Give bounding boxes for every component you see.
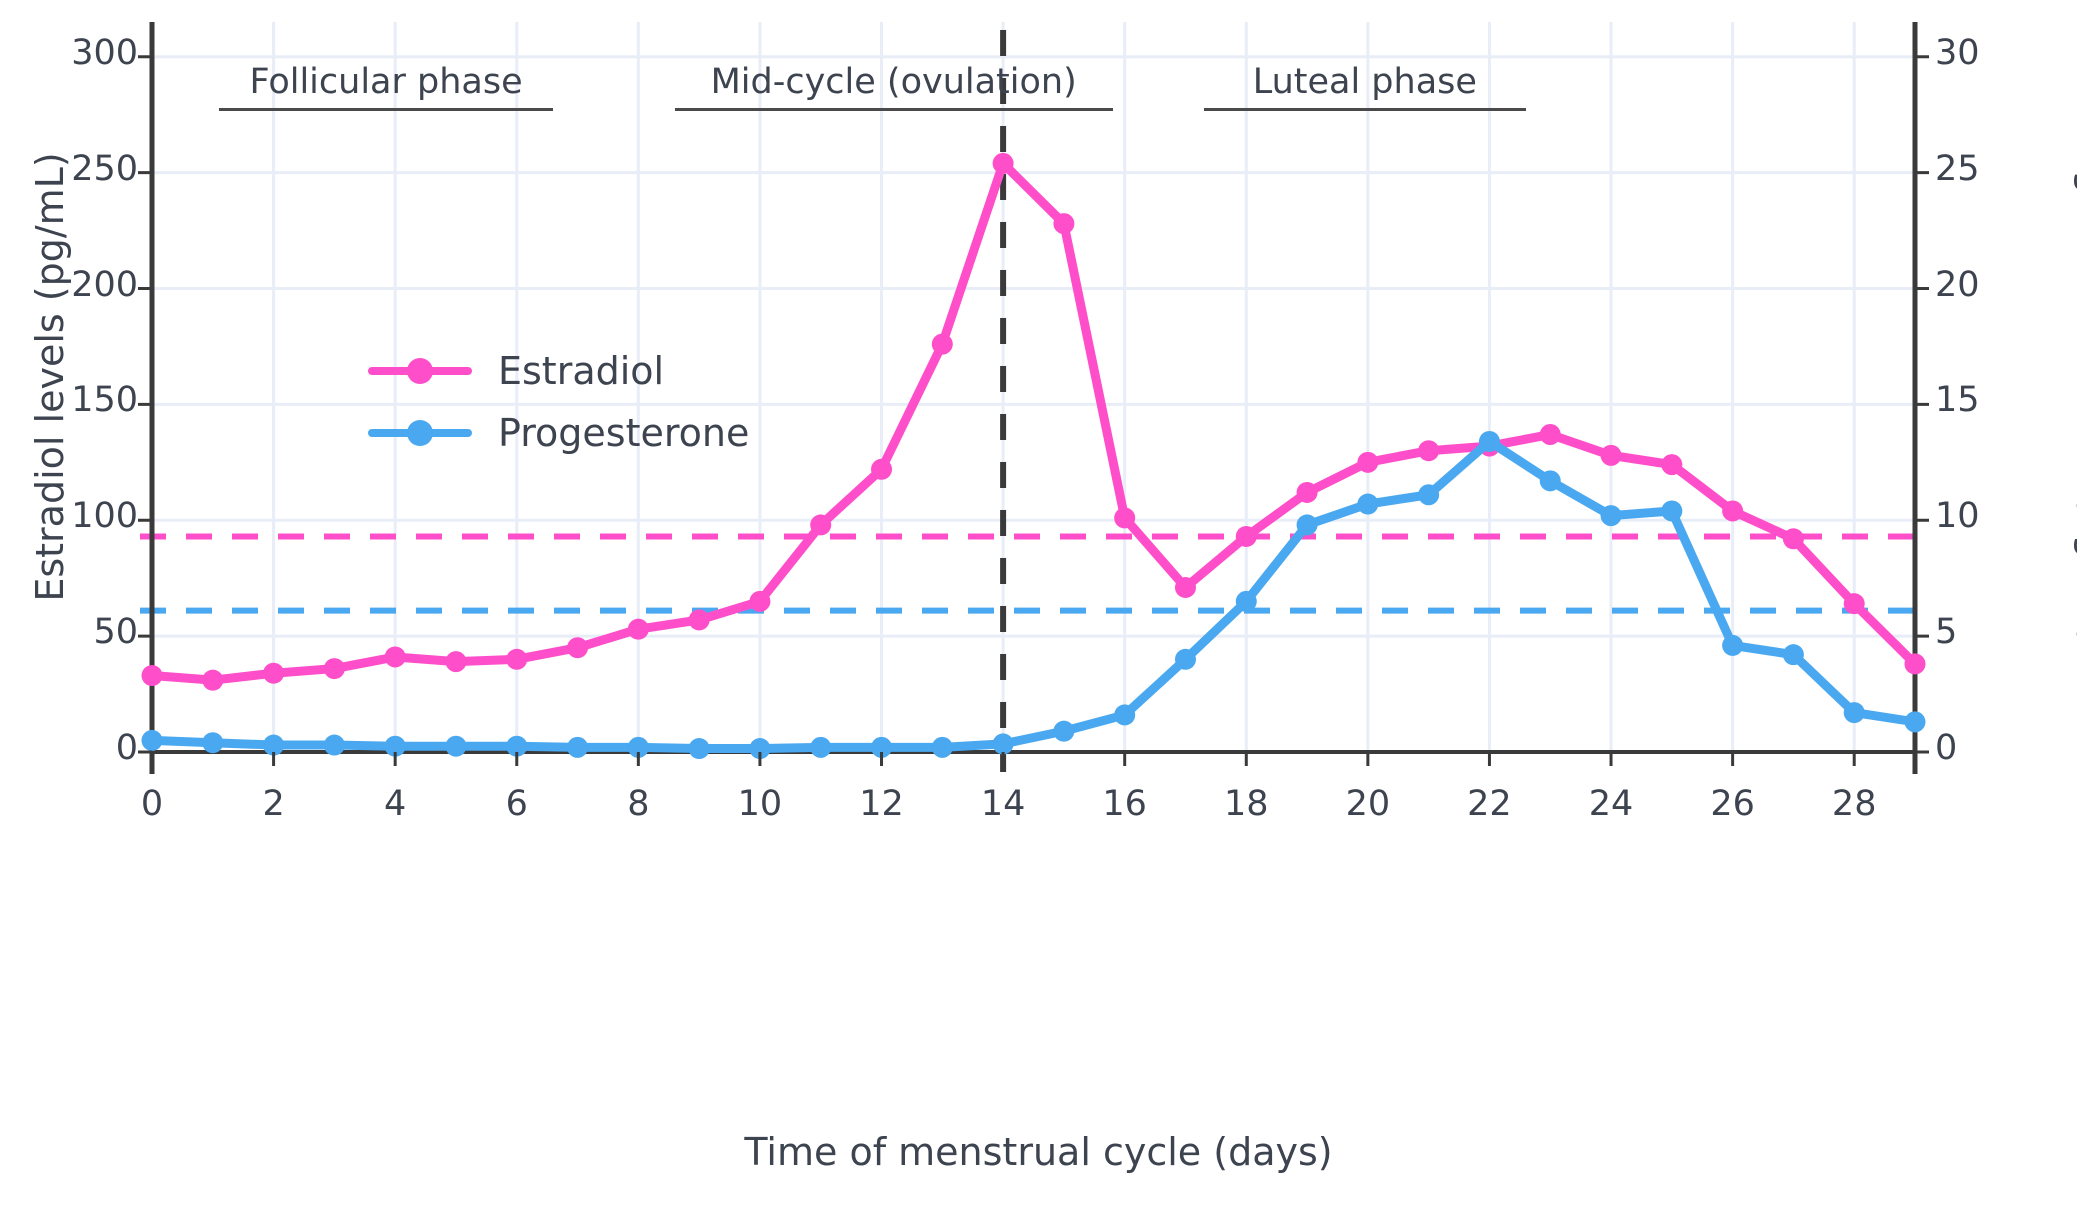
y-axis-right-title: Progesterone levels (ng/mL)	[2073, 27, 2077, 727]
data-point-progesterone[interactable]	[932, 737, 953, 758]
data-point-estradiol[interactable]	[1297, 482, 1318, 503]
data-point-progesterone[interactable]	[1601, 505, 1622, 526]
data-point-estradiol[interactable]	[202, 670, 223, 691]
data-point-progesterone[interactable]	[689, 738, 710, 759]
data-point-progesterone[interactable]	[445, 736, 466, 757]
x-axis-tick-label: 26	[1693, 784, 1773, 824]
legend-marker-icon	[407, 358, 433, 384]
data-point-estradiol[interactable]	[1357, 452, 1378, 473]
x-axis-tick-label: 2	[234, 784, 314, 824]
mid-cycle-annotation: Mid-cycle (ovulation)	[675, 62, 1113, 111]
data-point-progesterone[interactable]	[1905, 711, 1926, 732]
y-axis-right-tick-label: 30	[1935, 33, 1980, 73]
data-point-estradiol[interactable]	[1175, 577, 1196, 598]
data-point-estradiol[interactable]	[749, 591, 770, 612]
y-axis-right-tick-label: 20	[1935, 265, 1980, 305]
data-point-estradiol[interactable]	[810, 514, 831, 535]
y-axis-left-tick-label: 100	[60, 496, 138, 536]
y-axis-left-tick-label: 300	[60, 33, 138, 73]
legend-marker-icon	[407, 420, 433, 446]
x-axis-tick-label: 24	[1571, 784, 1651, 824]
data-point-progesterone[interactable]	[567, 737, 588, 758]
data-point-estradiol[interactable]	[1601, 445, 1622, 466]
x-axis-tick-label: 18	[1206, 784, 1286, 824]
data-point-estradiol[interactable]	[1418, 440, 1439, 461]
data-point-estradiol[interactable]	[1114, 507, 1135, 528]
y-axis-right-tick-label: 0	[1935, 728, 1957, 768]
follicular-phase-label: Follicular phase	[219, 62, 553, 108]
legend-swatch-progesterone	[368, 429, 472, 437]
y-axis-right-tick-label: 25	[1935, 149, 1980, 189]
legend-item-estradiol[interactable]: Estradiol	[368, 340, 749, 402]
data-point-estradiol[interactable]	[263, 663, 284, 684]
x-axis-tick-label: 14	[963, 784, 1043, 824]
data-point-estradiol[interactable]	[1236, 526, 1257, 547]
chart-legend[interactable]: EstradiolProgesterone	[368, 340, 749, 464]
y-axis-left-tick-label: 150	[60, 380, 138, 420]
data-point-estradiol[interactable]	[385, 646, 406, 667]
data-point-estradiol[interactable]	[871, 459, 892, 480]
x-axis-tick-label: 10	[720, 784, 800, 824]
data-point-progesterone[interactable]	[993, 733, 1014, 754]
y-axis-left-tick-label: 0	[60, 728, 138, 768]
x-axis-tick-label: 22	[1449, 784, 1529, 824]
data-point-progesterone[interactable]	[142, 730, 163, 751]
data-point-progesterone[interactable]	[1236, 591, 1257, 612]
data-point-estradiol[interactable]	[1722, 500, 1743, 521]
data-point-estradiol[interactable]	[324, 658, 345, 679]
data-point-estradiol[interactable]	[1540, 424, 1561, 445]
data-point-progesterone[interactable]	[1053, 721, 1074, 742]
data-point-progesterone[interactable]	[1297, 514, 1318, 535]
data-point-estradiol[interactable]	[1905, 653, 1926, 674]
data-point-estradiol[interactable]	[445, 651, 466, 672]
data-point-progesterone[interactable]	[1783, 644, 1804, 665]
chart-canvas: Estradiol levels (pg/mL) Progesterone le…	[0, 0, 2077, 1208]
data-point-progesterone[interactable]	[324, 735, 345, 756]
data-point-estradiol[interactable]	[1844, 593, 1865, 614]
luteal-phase-underline	[1204, 108, 1526, 111]
data-point-progesterone[interactable]	[1479, 431, 1500, 452]
x-axis-tick-label: 8	[598, 784, 678, 824]
legend-item-progesterone[interactable]: Progesterone	[368, 402, 749, 464]
data-point-progesterone[interactable]	[202, 732, 223, 753]
series-line-progesterone[interactable]	[152, 441, 1915, 748]
data-point-progesterone[interactable]	[810, 737, 831, 758]
y-axis-right-tick-label: 10	[1935, 496, 1980, 536]
mid-cycle-underline	[675, 108, 1113, 111]
luteal-phase-annotation: Luteal phase	[1204, 62, 1526, 111]
data-point-progesterone[interactable]	[1661, 500, 1682, 521]
x-axis-tick-label: 4	[355, 784, 435, 824]
data-point-estradiol[interactable]	[1661, 454, 1682, 475]
data-point-estradiol[interactable]	[1783, 528, 1804, 549]
x-axis-title: Time of menstrual cycle (days)	[0, 1130, 2077, 1174]
chart-plot-area	[0, 0, 2077, 1208]
y-axis-left-tick-label: 50	[60, 612, 138, 652]
y-axis-right-tick-label: 5	[1935, 612, 1957, 652]
data-point-progesterone[interactable]	[1418, 484, 1439, 505]
x-axis-tick-label: 6	[477, 784, 557, 824]
y-axis-left-tick-label: 250	[60, 149, 138, 189]
follicular-phase-annotation: Follicular phase	[219, 62, 553, 111]
data-point-estradiol[interactable]	[567, 637, 588, 658]
data-point-progesterone[interactable]	[1540, 470, 1561, 491]
data-point-progesterone[interactable]	[1357, 494, 1378, 515]
data-point-progesterone[interactable]	[1114, 704, 1135, 725]
follicular-phase-underline	[219, 108, 553, 111]
data-point-progesterone[interactable]	[1722, 635, 1743, 656]
data-point-progesterone[interactable]	[1844, 702, 1865, 723]
mid-cycle-label: Mid-cycle (ovulation)	[675, 62, 1113, 108]
x-axis-tick-label: 12	[842, 784, 922, 824]
data-point-estradiol[interactable]	[142, 665, 163, 686]
x-axis-tick-label: 20	[1328, 784, 1408, 824]
data-point-estradiol[interactable]	[506, 649, 527, 670]
y-axis-right-tick-label: 15	[1935, 380, 1980, 420]
legend-label-estradiol: Estradiol	[498, 349, 664, 393]
data-point-estradiol[interactable]	[628, 619, 649, 640]
legend-label-progesterone: Progesterone	[498, 411, 749, 455]
x-axis-tick-label: 16	[1085, 784, 1165, 824]
x-axis-tick-label: 0	[112, 784, 192, 824]
data-point-progesterone[interactable]	[1175, 649, 1196, 670]
data-point-estradiol[interactable]	[1053, 213, 1074, 234]
y-axis-left-tick-label: 200	[60, 265, 138, 305]
data-point-estradiol[interactable]	[993, 153, 1014, 174]
luteal-phase-label: Luteal phase	[1204, 62, 1526, 108]
legend-swatch-estradiol	[368, 367, 472, 375]
x-axis-tick-label: 28	[1814, 784, 1894, 824]
data-point-estradiol[interactable]	[689, 609, 710, 630]
data-point-estradiol[interactable]	[932, 334, 953, 355]
